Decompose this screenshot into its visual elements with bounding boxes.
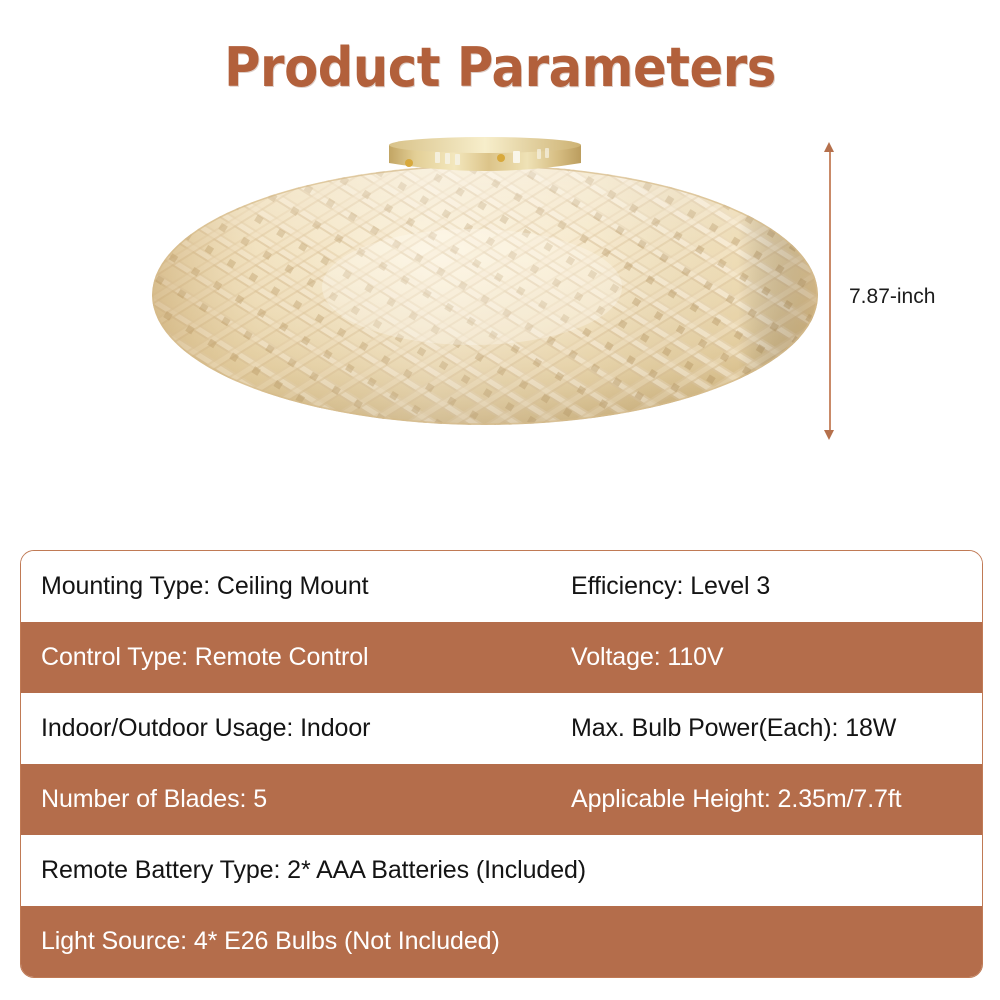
gold-canopy-mount xyxy=(387,135,583,179)
table-row: Mounting Type: Ceiling Mount Efficiency:… xyxy=(21,551,982,622)
spec-indoor-outdoor-usage: Indoor/Outdoor Usage: Indoor xyxy=(41,716,571,741)
ceiling-light-product-image xyxy=(152,135,818,445)
table-row: Number of Blades: 5 Applicable Height: 2… xyxy=(21,764,982,835)
table-row: Light Source: 4* E26 Bulbs (Not Included… xyxy=(21,906,982,977)
table-row: Indoor/Outdoor Usage: Indoor Max. Bulb P… xyxy=(21,693,982,764)
table-row: Control Type: Remote Control Voltage: 11… xyxy=(21,622,982,693)
spec-light-source: Light Source: 4* E26 Bulbs (Not Included… xyxy=(41,929,982,954)
spec-control-type: Control Type: Remote Control xyxy=(41,645,571,670)
spec-applicable-height: Applicable Height: 2.35m/7.7ft xyxy=(571,787,982,812)
product-parameters-table: Mounting Type: Ceiling Mount Efficiency:… xyxy=(20,550,983,978)
page-title: Product Parameters xyxy=(40,36,960,99)
height-dimension-line xyxy=(829,150,831,432)
arrow-down-icon xyxy=(824,430,834,440)
spec-remote-battery-type: Remote Battery Type: 2* AAA Batteries (I… xyxy=(41,858,982,883)
woven-bamboo-shade xyxy=(152,165,818,443)
spec-voltage: Voltage: 110V xyxy=(571,645,982,670)
product-image-stage: 19.69-inch xyxy=(0,120,1000,520)
spec-max-bulb-power: Max. Bulb Power(Each): 18W xyxy=(571,716,982,741)
spec-efficiency: Efficiency: Level 3 xyxy=(571,574,982,599)
height-dimension-label: 7.87-inch xyxy=(849,285,935,309)
spec-mounting-type: Mounting Type: Ceiling Mount xyxy=(41,574,571,599)
spec-number-of-blades: Number of Blades: 5 xyxy=(41,787,571,812)
table-row: Remote Battery Type: 2* AAA Batteries (I… xyxy=(21,835,982,906)
arrow-up-icon xyxy=(824,142,834,152)
